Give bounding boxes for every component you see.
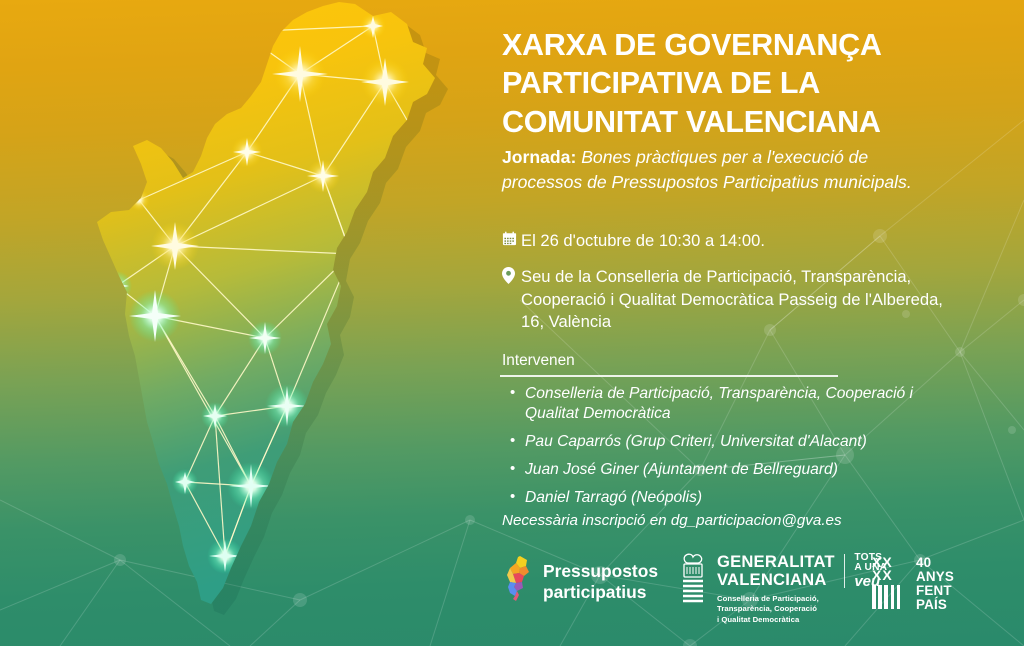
- anniversary-line-4: PAÍS: [916, 598, 954, 612]
- pressupostos-participatius-logo[interactable]: Pressupostos participatius: [504, 555, 658, 608]
- poster-canvas: XARXA DE GOVERNANÇA PARTICIPATIVA DE LA …: [0, 0, 1024, 646]
- event-date-text: El 26 d'octubre de 10:30 a 14:00.: [521, 231, 765, 250]
- valencia-map-icon: [504, 555, 534, 608]
- generalitat-valenciana-logo[interactable]: GENERALITAT VALENCIANA TOTS A UNA veu Co…: [678, 553, 887, 625]
- generalitat-name-row: GENERALITAT VALENCIANA TOTS A UNA veu: [717, 553, 887, 589]
- conselleria-line-3: i Qualitat Democràtica: [717, 615, 887, 625]
- conselleria-line-2: Transparència, Cooperació: [717, 604, 887, 614]
- event-location-row: Seu de la Conselleria de Participació, T…: [502, 266, 972, 334]
- logo-separator: [844, 554, 846, 588]
- generalitat-line-2: VALENCIANA: [717, 571, 835, 589]
- anniversary-line-1: 40: [916, 556, 954, 570]
- calendar-icon: [502, 231, 521, 246]
- pressupostos-logo-text: Pressupostos participatius: [543, 561, 658, 602]
- conselleria-subtitle: Conselleria de Participació, Transparènc…: [717, 594, 887, 625]
- generalitat-name: GENERALITAT VALENCIANA: [717, 553, 835, 588]
- event-location-text: Seu de la Conselleria de Participació, T…: [521, 266, 961, 334]
- valencia-network-map: [55, 0, 495, 646]
- pressupostos-line-2: participatius: [543, 582, 658, 602]
- senyera-bars: [872, 585, 908, 609]
- xx-line-2: XX: [872, 569, 908, 582]
- title-line-2: PARTICIPATIVA DE LA: [502, 64, 954, 102]
- generalitat-line-1: GENERALITAT: [717, 553, 835, 571]
- page-title: XARXA DE GOVERNANÇA PARTICIPATIVA DE LA …: [502, 26, 954, 141]
- logo-bar: Pressupostos participatius: [498, 550, 1024, 630]
- list-item: Daniel Tarragó (Neópolis): [508, 488, 948, 508]
- generalitat-shield-icon: [678, 553, 708, 625]
- anniversary-line-3: FENT: [916, 584, 954, 598]
- anniversary-text: 40 ANYS FENT PAÍS: [916, 556, 954, 612]
- speakers-heading: Intervenen: [502, 352, 575, 370]
- event-date-row: El 26 d'octubre de 10:30 a 14:00.: [502, 230, 765, 253]
- generalitat-text-block: GENERALITAT VALENCIANA TOTS A UNA veu Co…: [717, 553, 887, 625]
- list-item: Juan José Giner (Ajuntament de Bellregua…: [508, 460, 948, 480]
- list-item: Conselleria de Participació, Transparènc…: [508, 384, 948, 424]
- poster-content: XARXA DE GOVERNANÇA PARTICIPATIVA DE LA …: [498, 0, 1024, 646]
- title-line-1: XARXA DE GOVERNANÇA: [502, 26, 954, 64]
- speakers-divider: [500, 375, 838, 377]
- pressupostos-line-1: Pressupostos: [543, 561, 658, 581]
- 40-anys-fent-pais-logo[interactable]: XX XX 40 ANYS FENT PAÍS: [872, 556, 954, 612]
- senyera-columns-icon: XX XX: [872, 556, 908, 609]
- list-item: Pau Caparrós (Grup Criteri, Universitat …: [508, 432, 948, 452]
- conselleria-line-1: Conselleria de Participació,: [717, 594, 887, 604]
- anniversary-line-2: ANYS: [916, 570, 954, 584]
- jornada-description: Jornada: Bones pràctiques per a l'execuc…: [502, 145, 922, 195]
- jornada-label: Jornada:: [502, 147, 576, 167]
- title-line-3: COMUNITAT VALENCIANA: [502, 103, 954, 141]
- map-pin-icon: [502, 267, 521, 284]
- speakers-list: Conselleria de Participació, Transparènc…: [508, 384, 948, 516]
- registration-note: Necessària inscripció en dg_participacio…: [502, 512, 842, 529]
